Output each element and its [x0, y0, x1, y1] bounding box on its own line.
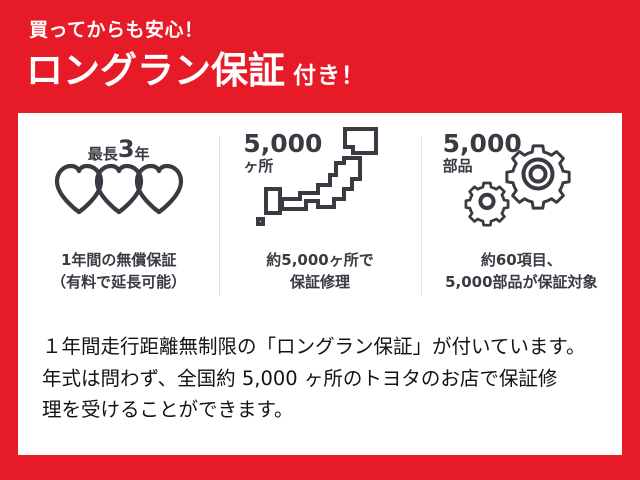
- feature-caption-line1: 約60項目、: [481, 251, 562, 269]
- feature-caption-line2: （有料で延長可能）: [51, 273, 186, 291]
- hearts-headline-number: 3: [118, 135, 135, 163]
- header-kicker: 買ってからも安心！: [29, 21, 204, 40]
- header-title-sub: 付き！: [293, 65, 365, 89]
- feature-column-covered-parts: 5,000 部品 約60項目、 5,000部品が保証対象: [421, 113, 622, 314]
- hearts-headline: 最長3年: [18, 137, 219, 162]
- feature-caption-line2: 保証修理: [290, 273, 350, 291]
- feature-caption: 約60項目、 5,000部品が保証対象: [445, 250, 597, 294]
- gears-headline: 5,000 部品: [443, 131, 522, 174]
- feature-caption: 1年間の無償保証 （有料で延長可能）: [51, 250, 186, 294]
- body-line-3: 理を受けることができます。: [42, 394, 604, 426]
- feature-caption-line2: 5,000部品が保証対象: [445, 273, 597, 291]
- header-title: ロングラン保証 付き！: [26, 52, 365, 89]
- map-headline-number: 5,000: [243, 131, 322, 156]
- body-line-1: １年間走行距離無制限の「ロングラン保証」が付いています。: [42, 331, 604, 363]
- gears-headline-unit: 部品: [443, 159, 522, 174]
- feature-columns: 最長3年 1年間の無償保証 （有料で延長可能）: [18, 113, 622, 314]
- map-headline: 5,000 ヶ所: [243, 131, 322, 174]
- feature-icon-area: 最長3年: [18, 113, 219, 250]
- feature-column-service-locations: 5,000 ヶ所 約5,000ヶ所で 保証修理: [219, 113, 420, 314]
- header-title-main: ロングラン保証: [26, 52, 285, 89]
- feature-caption-line1: 1年間の無償保証: [61, 251, 176, 269]
- body-paragraph: １年間走行距離無制限の「ロングラン保証」が付いています。 年式は問わず、全国約 …: [42, 331, 604, 426]
- body-line-2: 年式は問わず、全国約 5,000 ヶ所のトヨタのお店で保証修: [42, 363, 604, 395]
- gears-headline-number: 5,000: [443, 131, 522, 156]
- feature-caption: 約5,000ヶ所で 保証修理: [266, 250, 373, 294]
- longrun-warranty-banner: 買ってからも安心！ ロングラン保証 付き！ 最長3年: [0, 0, 640, 480]
- three-hearts-icon: [53, 160, 185, 216]
- feature-caption-line1: 約5,000ヶ所で: [266, 251, 373, 269]
- banner-header: 買ってからも安心！ ロングラン保証 付き！: [0, 0, 640, 113]
- feature-column-warranty-period: 最長3年 1年間の無償保証 （有料で延長可能）: [18, 113, 219, 314]
- map-headline-unit: ヶ所: [243, 159, 322, 174]
- feature-icon-area: 5,000 ヶ所: [219, 113, 420, 250]
- feature-icon-area: 5,000 部品: [421, 113, 622, 250]
- content-panel: 最長3年 1年間の無償保証 （有料で延長可能）: [18, 113, 622, 455]
